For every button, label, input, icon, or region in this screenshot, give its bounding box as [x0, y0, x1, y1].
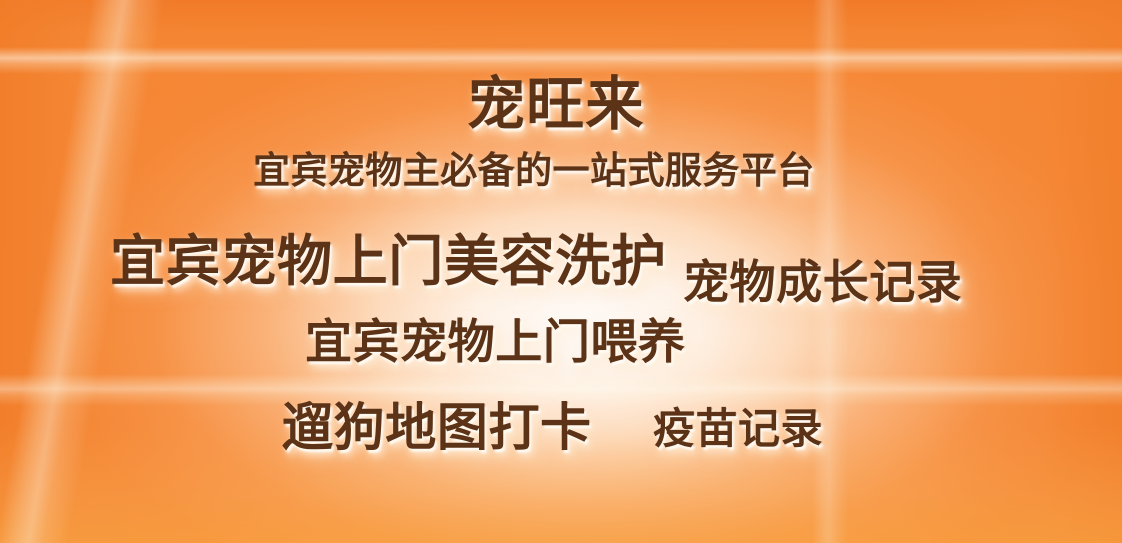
promo-banner: 宠旺来 宜宾宠物主必备的一站式服务平台 宜宾宠物上门美容洗护 宠物成长记录 宜宾… — [0, 0, 1122, 543]
brand-title: 宠旺来 — [467, 75, 644, 133]
brand-tagline: 宜宾宠物主必备的一站式服务平台 — [253, 152, 815, 189]
banner-content: 宠旺来 宜宾宠物主必备的一站式服务平台 宜宾宠物上门美容洗护 宠物成长记录 宜宾… — [0, 0, 1122, 543]
service-dog-walking-map: 遛狗地图打卡 — [282, 403, 592, 454]
service-growth-record: 宠物成长记录 — [683, 259, 962, 305]
service-grooming: 宜宾宠物上门美容洗护 — [110, 233, 667, 288]
service-home-feeding: 宜宾宠物上门喂养 — [305, 319, 686, 366]
service-vaccine-record: 疫苗记录 — [653, 408, 823, 450]
